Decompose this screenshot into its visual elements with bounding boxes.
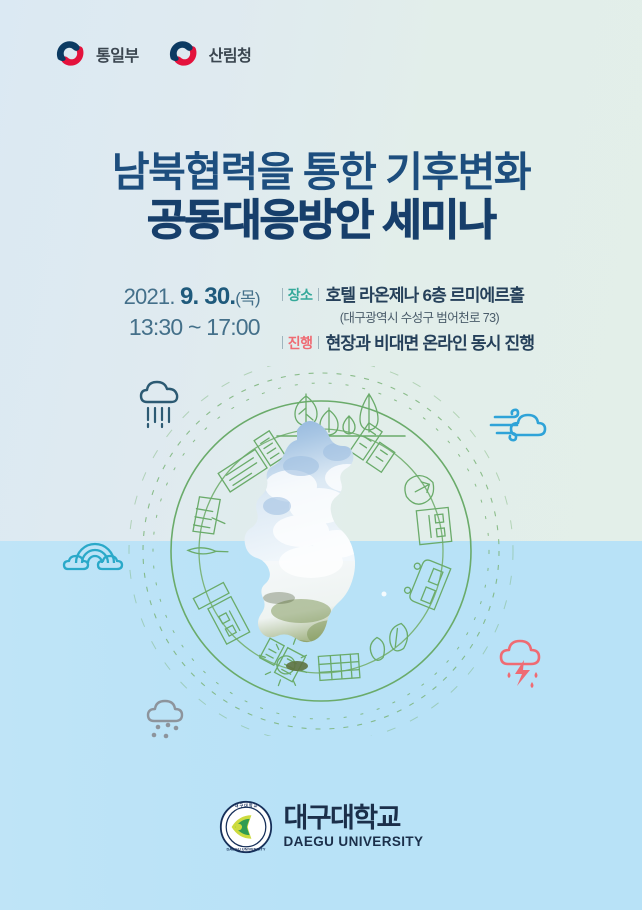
mode-label: 진행	[282, 333, 319, 353]
ring-icon-leaves	[365, 621, 414, 665]
mode-label-text: 진행	[288, 333, 313, 353]
divider-bar-left	[282, 288, 283, 301]
ring-icon-city-bottomleft	[257, 638, 305, 682]
logo-korea-forest-service: 산림청	[165, 36, 252, 72]
venue-label-text: 장소	[288, 285, 313, 305]
poster: 통일부 산림청 남북협력을 통한 기후변화 공동대응방안 세미나 2021. 9…	[0, 0, 642, 910]
taegeuk-icon	[52, 36, 88, 72]
university-footer: 대 구 대 학 교 DAEGU UNIVERSITY 대구대학교 DAEGU U…	[0, 800, 642, 854]
ring-icon-building-right	[416, 507, 451, 544]
venue-label: 장소	[282, 285, 319, 305]
rain-cloud-icon	[133, 378, 189, 436]
university-name-en: DAEGU UNIVERSITY	[284, 835, 424, 849]
venue-address: (대구광역시 수성구 범어천로 73)	[340, 307, 534, 326]
title-line-2: 공동대응방안 세미나	[0, 196, 642, 248]
venue-value: 호텔 라온제나 6층 르미에르홀	[326, 281, 525, 306]
daegu-university-seal-icon: 대 구 대 학 교 DAEGU UNIVERSITY	[219, 800, 273, 854]
event-time: 13:30 ~ 17:00	[108, 313, 260, 343]
svg-text:DAEGU UNIVERSITY: DAEGU UNIVERSITY	[226, 846, 265, 851]
logo-label-korea-forest-service: 산림청	[209, 42, 252, 66]
university-name-kr: 대구대학교	[284, 805, 424, 832]
event-venue-details: 장소 호텔 라온제나 6층 르미에르홀 (대구광역시 수성구 범어천로 73) …	[282, 280, 534, 354]
date-day-of-week: (목)	[235, 289, 260, 308]
jeju-island	[286, 661, 308, 671]
divider-bar-left	[282, 336, 283, 349]
ring-icon-solar-panel	[186, 491, 233, 541]
island-dot	[382, 592, 387, 597]
mode-value: 현장과 비대면 온라인 동시 진행	[326, 329, 535, 354]
wind-cloud-icon	[487, 403, 549, 445]
ring-icon-factory	[193, 583, 249, 648]
date-month-day: 9. 30.	[180, 283, 235, 310]
ring-icon-train	[402, 556, 451, 610]
logo-ministry-of-unification: 통일부	[52, 36, 139, 72]
logo-label-ministry-of-unification: 통일부	[96, 42, 139, 66]
title-line-1: 남북협력을 통한 기후변화	[0, 148, 642, 196]
poster-title: 남북협력을 통한 기후변화 공동대응방안 세미나	[0, 148, 642, 248]
taegeuk-icon	[165, 36, 201, 72]
rainbow-cloud-icon	[62, 533, 128, 575]
ring-icon-towers	[350, 423, 401, 472]
snow-cloud-icon	[140, 695, 198, 745]
divider-bar-right	[318, 288, 319, 301]
ring-icon-windmill	[188, 547, 228, 554]
svg-text:대 구 대 학 교: 대 구 대 학 교	[234, 803, 257, 808]
divider-bar-right	[318, 336, 319, 349]
event-info: 2021. 9. 30.(목) 13:30 ~ 17:00 장소 호텔 라온제나…	[0, 280, 642, 354]
government-logos: 통일부 산림청	[52, 36, 251, 72]
ring-icon-solar-farm	[318, 654, 360, 681]
event-date: 2021. 9. 30.(목)	[108, 282, 260, 313]
venue-row: 장소 호텔 라온제나 6층 르미에르홀	[282, 281, 534, 306]
date-year: 2021.	[124, 284, 175, 309]
event-datetime: 2021. 9. 30.(목) 13:30 ~ 17:00	[108, 280, 260, 343]
mode-row: 진행 현장과 비대면 온라인 동시 진행	[282, 329, 534, 354]
university-name: 대구대학교 DAEGU UNIVERSITY	[284, 805, 424, 849]
thunderstorm-icon	[492, 636, 554, 692]
